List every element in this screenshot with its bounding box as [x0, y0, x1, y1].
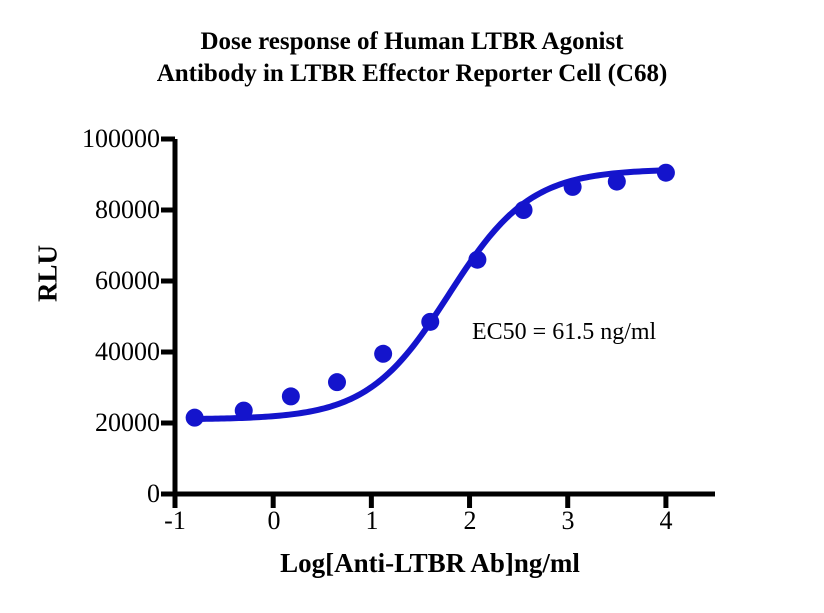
data-point — [515, 201, 533, 219]
plot-area — [0, 0, 824, 613]
data-point — [657, 164, 675, 182]
data-point — [186, 409, 204, 427]
data-point — [235, 402, 253, 420]
chart-figure: Dose response of Human LTBR Agonist Anti… — [0, 0, 824, 613]
data-point — [608, 173, 626, 191]
axis-lines — [173, 139, 715, 494]
data-point — [282, 387, 300, 405]
data-point-group — [186, 164, 675, 427]
data-point — [564, 178, 582, 196]
fit-curve — [195, 170, 666, 419]
data-point — [328, 373, 346, 391]
data-point — [421, 313, 439, 331]
data-point — [374, 345, 392, 363]
data-point — [468, 251, 486, 269]
